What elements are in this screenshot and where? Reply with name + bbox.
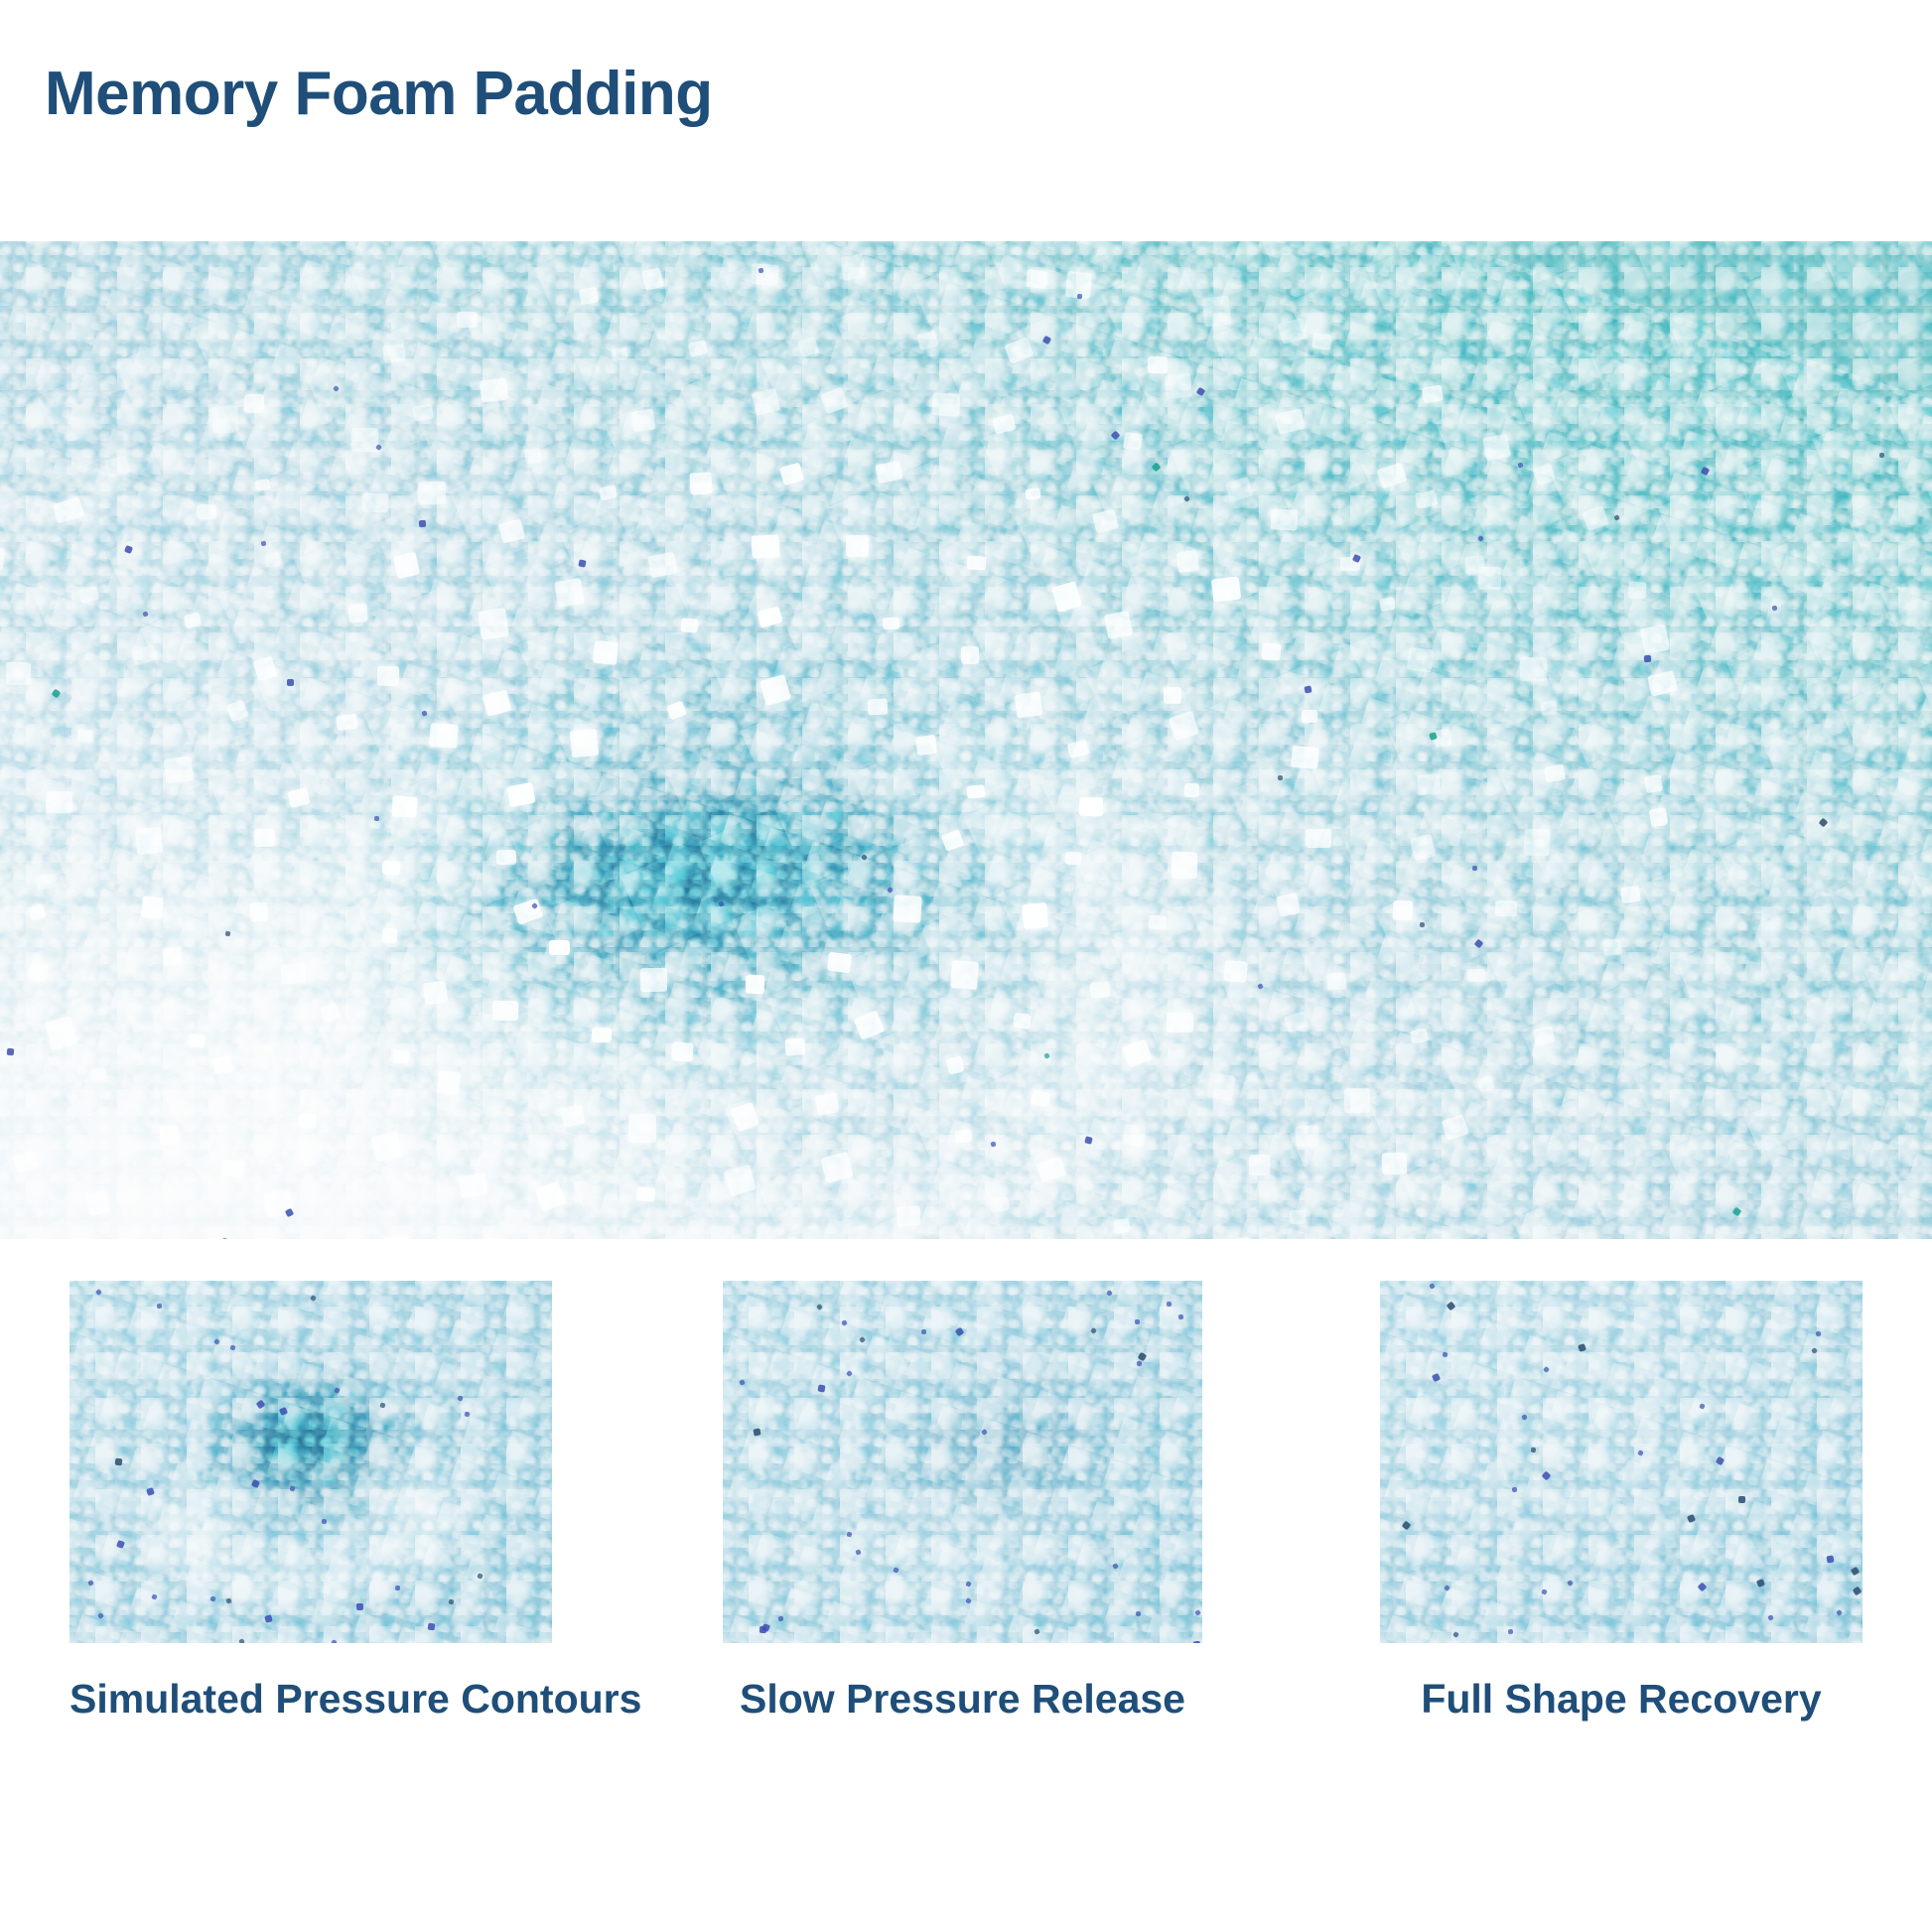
foam-speck: [1471, 865, 1476, 870]
foam-speck: [753, 1429, 760, 1437]
contour-marker: [1644, 774, 1663, 793]
caption-slow-pressure-release: Slow Pressure Release: [723, 1674, 1202, 1725]
contour-marker: [1602, 938, 1621, 955]
contour-marker: [437, 1070, 461, 1095]
contour-marker: [221, 1160, 244, 1177]
contour-marker: [382, 860, 401, 876]
thumb2-grain-2: [723, 1281, 1202, 1643]
contour-marker: [640, 968, 667, 992]
contour-marker: [281, 964, 307, 985]
foam-speck: [921, 1329, 926, 1334]
foam-speck: [1644, 655, 1651, 662]
contour-marker: [351, 428, 378, 452]
contour-marker: [1422, 384, 1444, 403]
contour-marker: [1167, 1013, 1193, 1033]
thumbnail-row: [0, 1281, 1932, 1643]
contour-marker: [492, 1001, 518, 1021]
contour-marker: [496, 850, 516, 865]
contour-marker: [1382, 1152, 1408, 1174]
contour-marker: [671, 1041, 694, 1061]
contour-marker: [381, 927, 397, 942]
contour-marker: [254, 479, 270, 491]
contour-marker: [554, 578, 585, 608]
contour-marker: [1249, 1155, 1270, 1175]
contour-marker: [6, 662, 31, 686]
contour-marker: [1291, 746, 1319, 770]
contour-marker: [254, 829, 275, 848]
contour-marker: [134, 827, 163, 855]
contour-marker: [845, 535, 868, 557]
foam-speck: [332, 1640, 338, 1643]
contour-marker: [1295, 1125, 1318, 1147]
contour-marker: [1407, 646, 1434, 672]
contour-marker: [1520, 657, 1547, 681]
contour-marker: [1640, 624, 1670, 655]
foam-speck: [449, 1598, 455, 1604]
contour-marker: [361, 492, 388, 512]
foam-speck: [7, 1048, 15, 1056]
contour-marker: [1379, 596, 1396, 611]
thumbnail-full-shape-recovery[interactable]: [1380, 1281, 1863, 1643]
contour-marker: [1031, 1090, 1049, 1107]
contour-marker: [1123, 1124, 1146, 1147]
contour-marker: [1495, 900, 1517, 917]
contour-marker: [423, 981, 449, 1005]
contour-marker: [1176, 550, 1199, 573]
contour-marker: [1290, 1210, 1306, 1224]
foam-speck: [1077, 294, 1082, 299]
caption-simulated-pressure-contours: Simulated Pressure Contours: [69, 1674, 552, 1725]
contour-marker: [840, 253, 867, 280]
foam-speck: [264, 1614, 273, 1623]
contour-marker: [1541, 700, 1559, 716]
contour-marker: [1393, 900, 1413, 920]
contour-marker: [960, 646, 979, 664]
contour-marker: [579, 287, 599, 306]
contour-marker: [382, 344, 405, 363]
contour-marker: [868, 698, 888, 715]
contour-marker: [299, 1114, 316, 1129]
thumbnail-simulated-pressure-contours[interactable]: [69, 1281, 552, 1643]
contour-marker: [631, 408, 656, 432]
contour-marker: [212, 405, 240, 433]
page-title: Memory Foam Padding: [45, 56, 713, 133]
contour-marker: [347, 603, 367, 622]
caption-full-shape-recovery: Full Shape Recovery: [1380, 1674, 1863, 1725]
contour-marker: [429, 723, 458, 748]
contour-marker: [28, 963, 49, 982]
contour-marker: [524, 448, 542, 465]
foam-grain-texture-3: [0, 241, 1932, 1239]
contour-marker: [412, 403, 434, 421]
contour-marker: [915, 735, 937, 756]
contour-marker: [1065, 852, 1081, 865]
foam-speck: [1135, 1319, 1140, 1324]
contour-marker: [1276, 894, 1301, 917]
contour-marker: [393, 1050, 409, 1064]
contour-marker: [1478, 566, 1501, 589]
foam-speck: [260, 540, 266, 546]
thumbnail-slow-pressure-release[interactable]: [723, 1281, 1202, 1643]
contour-marker: [264, 553, 281, 569]
contour-marker: [1418, 773, 1443, 795]
contour-marker: [966, 555, 986, 570]
contour-marker: [1206, 1073, 1235, 1101]
contour-marker: [746, 975, 765, 995]
contour-marker: [967, 785, 986, 800]
foam-speck: [1193, 1640, 1201, 1643]
contour-marker: [1184, 783, 1199, 797]
contour-marker: [931, 392, 960, 417]
foam-speck: [578, 559, 586, 567]
contour-marker: [570, 729, 600, 758]
foam-speck: [1738, 1495, 1745, 1502]
contour-marker: [1026, 269, 1048, 289]
contour-marker: [244, 394, 264, 413]
contour-marker: [1123, 432, 1143, 451]
contour-marker: [1089, 981, 1111, 1000]
contour-marker: [370, 1131, 402, 1162]
foam-speck: [1879, 453, 1884, 458]
contour-marker: [893, 895, 921, 922]
contour-marker: [250, 901, 269, 921]
contour-marker: [635, 1186, 655, 1202]
contour-marker: [1344, 1088, 1370, 1114]
contour-marker: [814, 1093, 839, 1116]
foam-speck: [419, 520, 426, 527]
thumb1-grain-2: [69, 1281, 552, 1643]
contour-marker: [1628, 581, 1648, 599]
contour-marker: [336, 714, 357, 731]
contour-marker: [480, 377, 508, 401]
contour-marker: [1211, 576, 1241, 602]
contour-marker: [188, 1034, 205, 1047]
foam-speck: [1136, 1610, 1142, 1616]
contour-marker: [681, 618, 699, 632]
contour-marker: [1172, 852, 1198, 880]
contour-marker: [160, 1126, 179, 1145]
contour-marker: [90, 1067, 107, 1080]
contour-marker: [457, 312, 478, 328]
contour-marker: [77, 730, 94, 744]
contour-marker: [1022, 902, 1049, 930]
contour-marker: [1202, 296, 1232, 327]
contour-marker: [1164, 687, 1182, 704]
contour-marker: [392, 795, 418, 818]
contour-marker: [593, 640, 620, 665]
foam-speck: [287, 679, 294, 686]
contour-marker: [689, 472, 712, 495]
contour-marker: [478, 608, 508, 640]
contour-marker: [896, 1205, 920, 1226]
contour-marker: [950, 960, 979, 990]
contour-marker: [785, 1037, 807, 1056]
contour-marker: [1482, 434, 1511, 461]
foam-speck: [1137, 1361, 1142, 1366]
contour-marker: [1620, 886, 1641, 903]
thumb3-grain-2: [1380, 1281, 1863, 1643]
contour-marker: [1113, 1218, 1131, 1234]
contour-marker: [1013, 1013, 1031, 1029]
contour-marker: [955, 1129, 973, 1144]
contour-marker: [1326, 972, 1346, 990]
foam-speck: [322, 1518, 328, 1524]
contour-marker: [1302, 710, 1317, 723]
contour-marker: [164, 757, 195, 785]
contour-marker: [1306, 829, 1331, 848]
contour-marker: [1165, 373, 1193, 400]
contour-marker: [141, 896, 164, 919]
contour-marker: [1311, 333, 1332, 350]
foam-speck: [1277, 775, 1282, 780]
contour-marker: [1148, 914, 1167, 930]
contour-marker: [827, 951, 853, 973]
foam-speck: [1420, 922, 1425, 927]
contour-marker: [377, 666, 399, 686]
foam-speck: [1512, 1487, 1518, 1493]
contour-marker: [1270, 509, 1298, 531]
contour-marker: [592, 1027, 612, 1041]
hero-foam-image: [0, 241, 1932, 1239]
contour-marker: [197, 504, 217, 520]
foam-speck: [356, 1603, 363, 1610]
contour-marker: [751, 263, 778, 286]
contour-marker: [1262, 643, 1282, 661]
contour-marker: [1524, 829, 1551, 857]
contour-marker: [1224, 960, 1249, 983]
contour-marker: [1148, 356, 1169, 373]
contour-marker: [417, 481, 445, 504]
contour-marker: [1014, 691, 1042, 718]
contour-marker: [162, 946, 183, 967]
foam-speck: [1442, 1351, 1448, 1357]
contour-marker: [1467, 969, 1485, 982]
contour-marker: [883, 618, 899, 630]
foam-speck: [1304, 685, 1311, 693]
contour-marker: [549, 940, 570, 956]
foam-speck: [115, 1457, 123, 1465]
contour-marker: [1079, 796, 1103, 816]
contour-marker: [752, 535, 780, 559]
caption-row: Simulated Pressure Contours Slow Pressur…: [0, 1674, 1932, 1743]
contour-marker: [628, 1114, 656, 1143]
contour-marker: [46, 791, 72, 814]
foam-speck: [374, 816, 379, 821]
foam-speck: [1827, 1555, 1835, 1563]
